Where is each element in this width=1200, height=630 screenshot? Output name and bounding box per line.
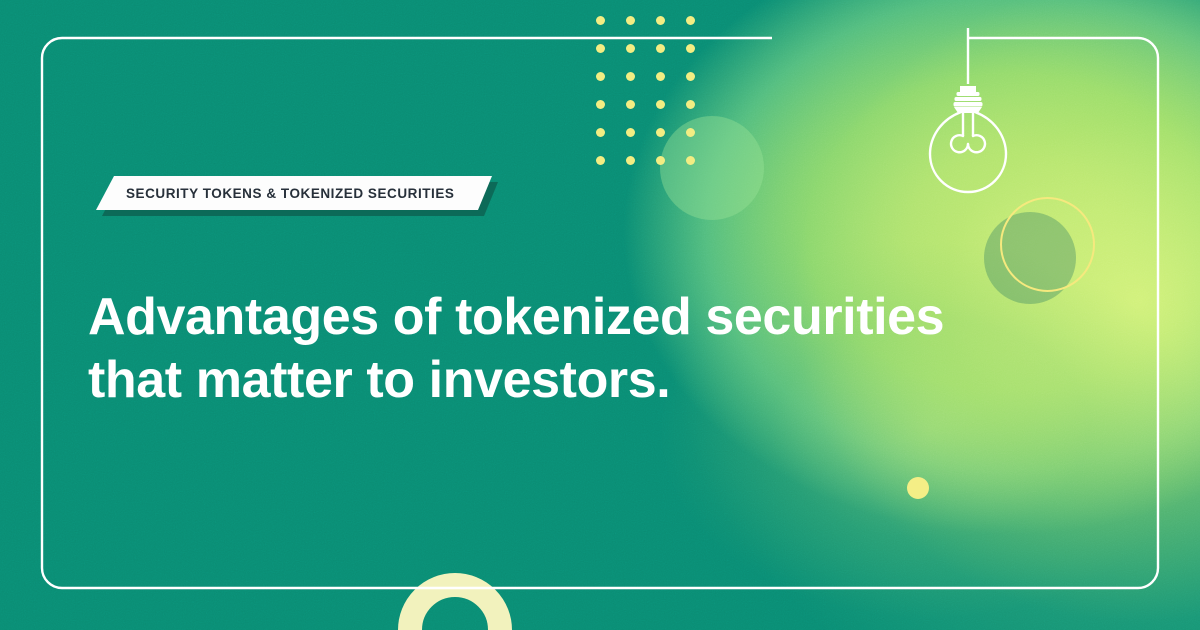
grid-dot (686, 16, 695, 25)
grid-dot (656, 72, 665, 81)
grid-dot (626, 44, 635, 53)
grid-dot (626, 156, 635, 165)
grid-dot (686, 100, 695, 109)
grid-dot (596, 100, 605, 109)
grid-dot (596, 44, 605, 53)
category-badge: SECURITY TOKENS & TOKENIZED SECURITIES (96, 176, 492, 212)
headline-line-1: Advantages of tokenized securities (88, 286, 988, 349)
headline-line-2: that matter to investors. (88, 349, 988, 412)
grid-dot (596, 156, 605, 165)
grid-dot (656, 100, 665, 109)
grid-dot (596, 72, 605, 81)
grid-dot (626, 128, 635, 137)
grid-dot (626, 16, 635, 25)
grid-dot (686, 72, 695, 81)
decor-ring-yellow (1000, 197, 1095, 292)
grid-dot (656, 156, 665, 165)
grid-dot (596, 128, 605, 137)
grid-dot (656, 128, 665, 137)
grid-dot (596, 16, 605, 25)
grid-dot (656, 44, 665, 53)
grid-dot (626, 72, 635, 81)
grid-dot (686, 44, 695, 53)
category-badge-label: SECURITY TOKENS & TOKENIZED SECURITIES (126, 186, 454, 201)
decor-dot-yellow (907, 477, 929, 499)
grid-dot (686, 128, 695, 137)
grid-dot (626, 100, 635, 109)
grid-dot (686, 156, 695, 165)
category-badge-surface: SECURITY TOKENS & TOKENIZED SECURITIES (96, 176, 492, 210)
decor-dot-grid (596, 16, 704, 172)
headline: Advantages of tokenized securities that … (88, 286, 988, 413)
grid-dot (656, 16, 665, 25)
banner-canvas: SECURITY TOKENS & TOKENIZED SECURITIES A… (0, 0, 1200, 630)
